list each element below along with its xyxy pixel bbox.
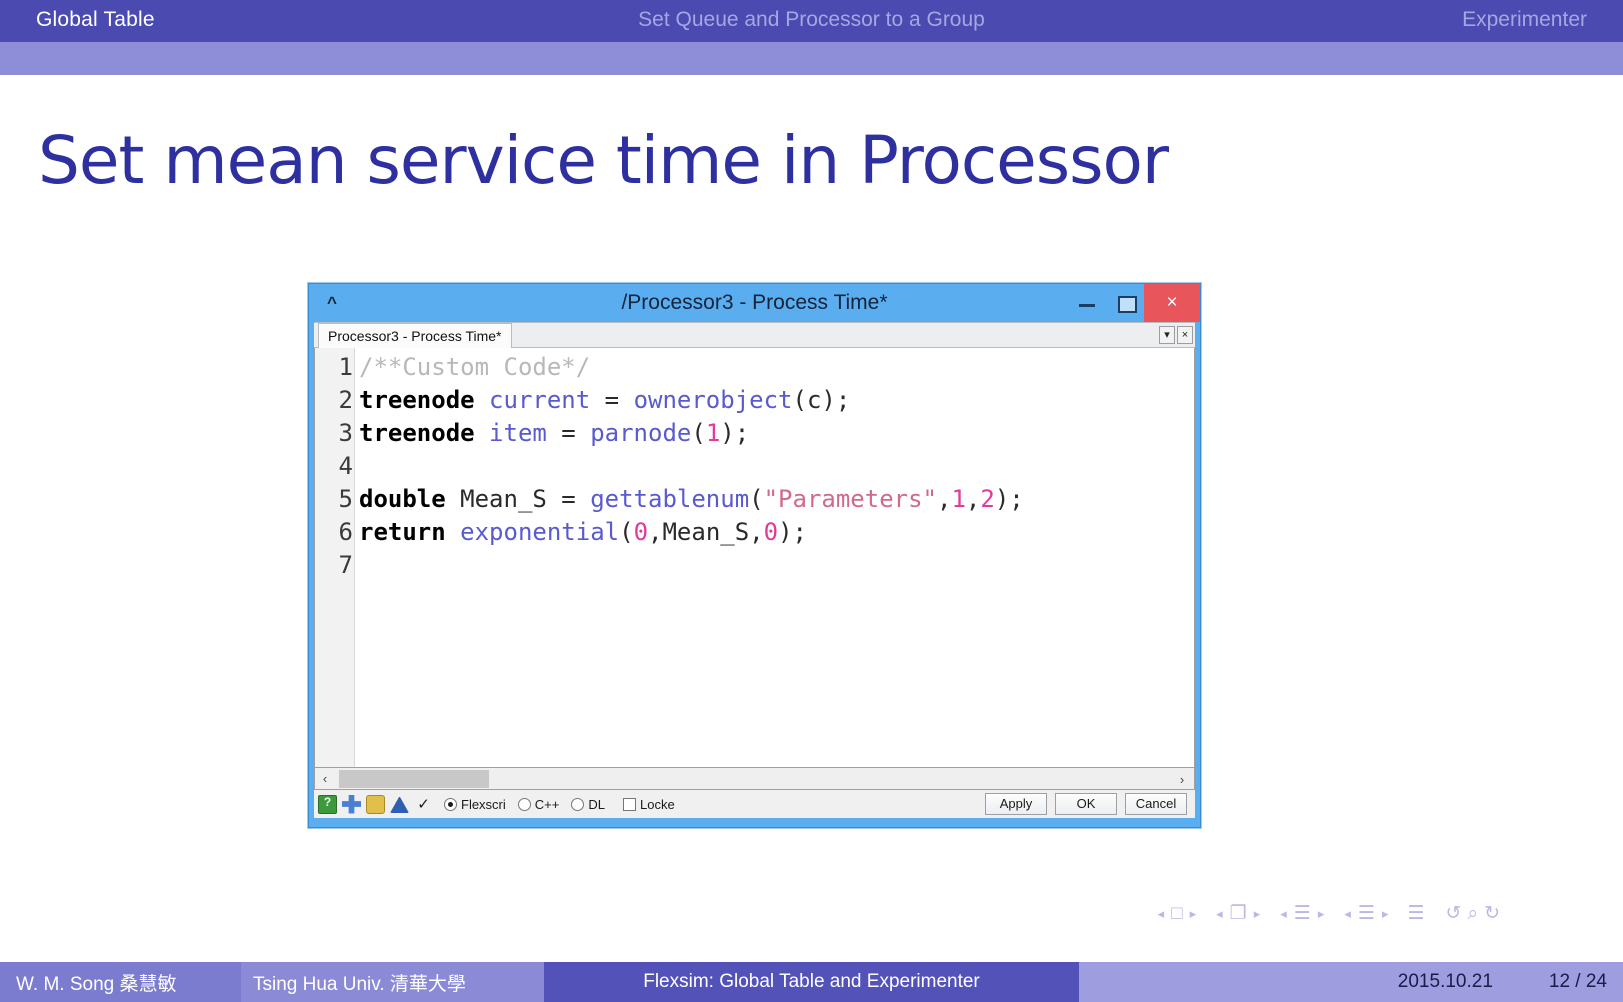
scroll-left-arrow-icon[interactable]: ‹ (315, 769, 335, 789)
radio-flexscript[interactable]: Flexscri (444, 797, 506, 812)
code-token: gettablenum (590, 485, 749, 513)
horizontal-scrollbar[interactable]: ‹ › (314, 768, 1195, 790)
language-radio-group: Flexscri C++ DL (444, 797, 617, 812)
scrollbar-thumb[interactable] (339, 770, 489, 788)
code-line: 4 (315, 450, 1194, 483)
footer-author: W. M. Song 桑慧敏 (0, 962, 241, 1002)
puzzle-icon[interactable] (342, 795, 361, 814)
checkbox-locked[interactable]: Locke (623, 797, 675, 812)
code-token: 2 (980, 485, 994, 513)
nav-search-icon[interactable]: ⌕ (1467, 903, 1478, 925)
line-number: 2 (315, 384, 353, 417)
code-token: current (489, 386, 590, 414)
apply-button[interactable]: Apply (985, 793, 1047, 815)
nav-next-subsection-icon[interactable]: ▸ (1318, 906, 1325, 922)
code-line-text: treenode current = ownerobject(c); (359, 384, 850, 417)
folder-icon[interactable] (366, 795, 385, 814)
nav-prev-subsection-icon[interactable]: ◂ (1280, 906, 1287, 922)
checkbox-box-locked[interactable] (623, 798, 636, 811)
nav-presentation-icon[interactable]: ☰ (1407, 902, 1424, 925)
beamer-navigation-symbols: ◂ □ ▸ ◂ ❐ ▸ ◂ ☰ ▸ ◂ ☰ ▸ ☰ ↺ ⌕ ↻ (1154, 902, 1503, 925)
code-token: treenode (359, 419, 475, 447)
radio-dot-dll[interactable] (571, 798, 584, 811)
code-token: Mean_S = (446, 485, 591, 513)
nav-group-section[interactable]: ◂ ☰ ▸ (1340, 902, 1392, 925)
nav-section-icon[interactable]: ☰ (1358, 902, 1375, 925)
nav-group-slide[interactable]: ◂ □ ▸ (1154, 903, 1201, 925)
code-token: "Parameters" (764, 485, 937, 513)
code-token: ); (720, 419, 749, 447)
window-title: /Processor3 - Process Time* (309, 284, 1200, 322)
nav-next-frame-icon[interactable]: ▸ (1254, 906, 1261, 922)
nav-prev-frame-icon[interactable]: ◂ (1216, 906, 1223, 922)
code-token: , (937, 485, 951, 513)
code-token: item (489, 419, 547, 447)
code-token: ,Mean_S, (648, 518, 764, 546)
nav-back-icon[interactable]: ↺ (1446, 902, 1462, 925)
code-token (475, 419, 489, 447)
footer-meta: 2015.10.21 12 / 24 (1220, 962, 1623, 1002)
code-line: 6return exponential(0,Mean_S,0); (315, 516, 1194, 549)
code-line-text: double Mean_S = gettablenum("Parameters"… (359, 483, 1024, 516)
code-token (475, 386, 489, 414)
code-token: , (966, 485, 980, 513)
footer-subject: Flexsim: Global Table and Experimenter (544, 962, 1079, 1002)
editor-bottom-bar: ✓ Flexscri C++ DL Locke (314, 790, 1195, 818)
tab-controls: ▾ × (1159, 326, 1193, 344)
footer-date: 2015.10.21 (1398, 971, 1493, 993)
line-number: 7 (315, 549, 353, 582)
code-token: treenode (359, 386, 475, 414)
tab-processor3-process-time[interactable]: Processor3 - Process Time* (318, 323, 512, 349)
code-line-text: return exponential(0,Mean_S,0); (359, 516, 807, 549)
line-number: 5 (315, 483, 353, 516)
nav-prev-section-icon[interactable]: ◂ (1344, 906, 1351, 922)
code-token: = (547, 419, 590, 447)
tab-dropdown-icon[interactable]: ▾ (1159, 326, 1175, 344)
footer-bar: W. M. Song 桑慧敏 Tsing Hua Univ. 清華大學 Flex… (0, 962, 1623, 1002)
page-title: Set mean service time in Processor (38, 122, 1168, 199)
slide-root: Global Table Set Queue and Processor to … (0, 0, 1623, 1002)
code-token: ); (778, 518, 807, 546)
radio-dot-cpp[interactable] (518, 798, 531, 811)
code-editor[interactable]: 1/**Custom Code*/2treenode current = own… (314, 348, 1195, 768)
footer-institution: Tsing Hua Univ. 清華大學 (241, 962, 544, 1002)
tab-close-icon[interactable]: × (1177, 326, 1193, 344)
cancel-button[interactable]: Cancel (1125, 793, 1187, 815)
radio-label-flexscript: Flexscri (461, 797, 506, 812)
help-icon[interactable] (318, 795, 337, 814)
window-controls: × (1068, 284, 1200, 322)
compile-icon[interactable] (390, 797, 409, 813)
code-line: 5double Mean_S = gettablenum("Parameters… (315, 483, 1194, 516)
code-token: 1 (951, 485, 965, 513)
header-subbar (0, 42, 1623, 75)
code-token: ); (995, 485, 1024, 513)
window-titlebar[interactable]: ^ /Processor3 - Process Time* × (309, 284, 1200, 322)
nav-group-subsection[interactable]: ◂ ☰ ▸ (1276, 902, 1328, 925)
nav-slide-icon[interactable]: □ (1171, 903, 1182, 925)
scrollbar-track[interactable]: › (335, 770, 1194, 788)
code-token: exponential (460, 518, 619, 546)
nav-subsection-icon[interactable]: ☰ (1294, 902, 1311, 925)
code-token: parnode (590, 419, 691, 447)
code-token: ( (691, 419, 705, 447)
nav-next-slide-icon[interactable]: ▸ (1190, 906, 1197, 922)
footer-page-number: 12 / 24 (1549, 971, 1607, 993)
nav-group-frame[interactable]: ◂ ❐ ▸ (1212, 902, 1264, 925)
maximize-button[interactable] (1106, 284, 1144, 322)
code-line: 1/**Custom Code*/ (315, 351, 1194, 384)
footer-subject-wrap: Flexsim: Global Table and Experimenter (544, 962, 1220, 1002)
code-token: double (359, 485, 446, 513)
scroll-right-arrow-icon[interactable]: › (1172, 770, 1192, 790)
minimize-button[interactable] (1068, 284, 1106, 322)
processor-process-time-window: ^ /Processor3 - Process Time* × Processo… (308, 283, 1201, 828)
code-line: 3treenode item = parnode(1); (315, 417, 1194, 450)
code-token: ( (749, 485, 763, 513)
code-line: 2treenode current = ownerobject(c); (315, 384, 1194, 417)
code-token: /**Custom Code*/ (359, 353, 590, 381)
line-number: 1 (315, 351, 353, 384)
code-line-text: treenode item = parnode(1); (359, 417, 749, 450)
checkbox-label-locked: Locke (640, 797, 675, 812)
radio-label-dll: DL (588, 797, 605, 812)
code-token: ( (619, 518, 633, 546)
code-token: = (590, 386, 633, 414)
code-token: 0 (764, 518, 778, 546)
radio-cpp[interactable]: C++ (518, 797, 560, 812)
close-button[interactable]: × (1144, 284, 1200, 322)
code-token: (c); (793, 386, 851, 414)
code-line-text: /**Custom Code*/ (359, 351, 590, 384)
line-number: 3 (315, 417, 353, 450)
code-token: return (359, 518, 446, 546)
header-nav-experimenter[interactable]: Experimenter (1462, 8, 1587, 32)
code-token: ownerobject (634, 386, 793, 414)
check-icon[interactable]: ✓ (414, 795, 433, 814)
radio-dll[interactable]: DL (571, 797, 605, 812)
header-nav-set-queue[interactable]: Set Queue and Processor to a Group (0, 8, 1623, 32)
code-line: 7 (315, 549, 1194, 582)
nav-forward-icon[interactable]: ↻ (1484, 902, 1500, 925)
code-token: 1 (706, 419, 720, 447)
nav-frame-icon[interactable]: ❐ (1230, 902, 1247, 925)
nav-next-section-icon[interactable]: ▸ (1382, 906, 1389, 922)
tab-strip: Processor3 - Process Time* ▾ × (314, 322, 1195, 348)
code-lines: 1/**Custom Code*/2treenode current = own… (315, 351, 1194, 582)
line-number: 4 (315, 450, 353, 483)
ok-button[interactable]: OK (1055, 793, 1117, 815)
code-token: 0 (634, 518, 648, 546)
radio-label-cpp: C++ (535, 797, 560, 812)
dialog-buttons: Apply OK Cancel (985, 793, 1191, 815)
code-token (446, 518, 460, 546)
nav-prev-slide-icon[interactable]: ◂ (1158, 906, 1165, 922)
radio-dot-flexscript[interactable] (444, 798, 457, 811)
line-number: 6 (315, 516, 353, 549)
